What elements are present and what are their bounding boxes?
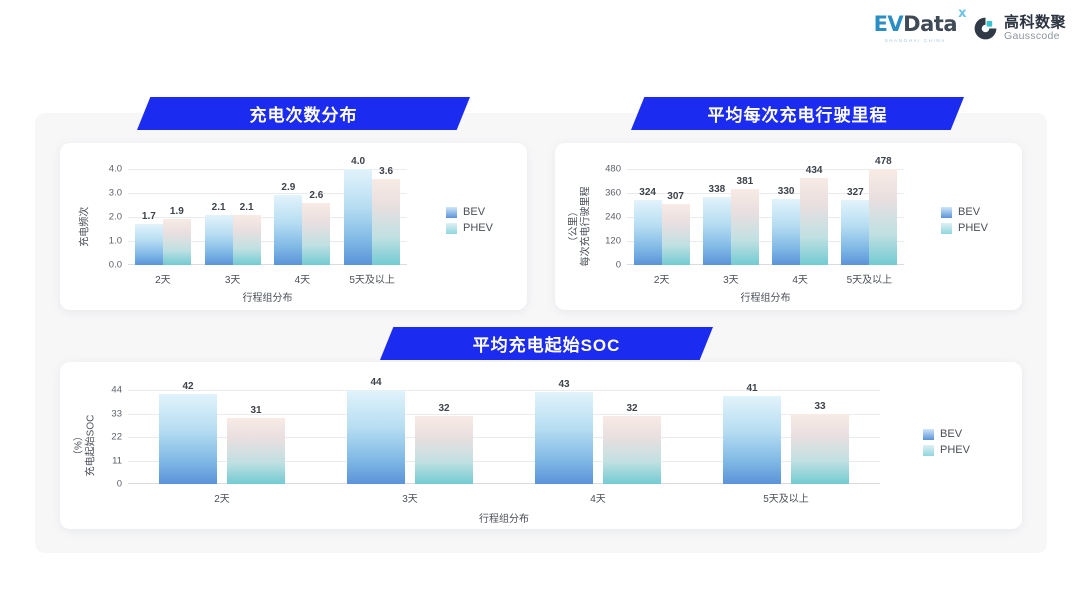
bar-phev[interactable]: 32 (603, 416, 661, 484)
chart3-y-axis-label-line2: （%） (74, 415, 86, 477)
legend-swatch-bev-icon (941, 207, 952, 218)
gausscode-name-en: Gausscode (1004, 31, 1066, 42)
legend-label: PHEV (463, 222, 493, 234)
chart2-y-axis-label: 每次充电行驶里程 （公里） (563, 143, 597, 310)
bar-phev[interactable]: 2.1 (233, 215, 261, 265)
chart2-plot-area: 480 360 240 120 0 324 307 338 381 330 43… (627, 169, 904, 265)
chart1-ytick: 0.0 (109, 260, 122, 271)
bar-group: 330 434 (766, 169, 835, 265)
chart3-x-ticks: 2天 3天 4天 5天及以上 (128, 490, 880, 505)
evdata-logo: EVData x shanghai china (874, 14, 957, 43)
bar-value-label: 44 (370, 377, 381, 388)
bar-group: 2.9 2.6 (268, 169, 338, 265)
bar-bev[interactable]: 2.9 (274, 195, 302, 265)
bar-group: 44 32 (316, 390, 504, 484)
chart1-x-ticks: 2天 3天 4天 5天及以上 (128, 271, 407, 286)
bar-bev[interactable]: 330 (772, 199, 800, 265)
legend-item-bev[interactable]: BEV (446, 206, 493, 218)
chart2-ytick: 120 (605, 236, 621, 247)
bar-phev[interactable]: 381 (731, 189, 759, 265)
bar-value-label: 4.0 (351, 156, 365, 167)
bar-bev[interactable]: 327 (841, 200, 869, 265)
bar-bev[interactable]: 42 (159, 394, 217, 484)
legend-swatch-phev-icon (923, 445, 934, 456)
bar-phev[interactable]: 33 (791, 414, 849, 485)
bar-value-label: 43 (558, 379, 569, 390)
bar-value-label: 307 (667, 191, 684, 202)
bar-group: 338 381 (696, 169, 765, 265)
legend-item-bev[interactable]: BEV (923, 428, 970, 440)
chart1-bars: 1.7 1.9 2.1 2.1 2.9 2.6 4.0 3.6 (128, 169, 407, 265)
bar-bev[interactable]: 41 (723, 396, 781, 484)
legend-item-phev[interactable]: PHEV (923, 444, 970, 456)
chart-charging-frequency: 充电频次 4.0 3.0 2.0 1.0 0.0 1.7 1.9 2.1 2.1 (60, 143, 527, 310)
bar-bev[interactable]: 338 (703, 197, 731, 265)
gausscode-text: 高科数聚 Gausscode (1004, 15, 1066, 42)
chart1-x-axis-label: 行程组分布 (128, 289, 407, 304)
bar-value-label: 327 (847, 187, 864, 198)
bar-group: 4.0 3.6 (337, 169, 407, 265)
chart2-ytick: 360 (605, 188, 621, 199)
gausscode-name-cn: 高科数聚 (1004, 15, 1066, 31)
bar-phev[interactable]: 1.9 (163, 219, 191, 265)
chart3-y-axis-label: 充电起始SOC （%） (68, 362, 102, 529)
chart1-ytick: 3.0 (109, 188, 122, 199)
legend-label: PHEV (940, 444, 970, 456)
bar-value-label: 330 (778, 186, 795, 197)
bar-group: 324 307 (627, 169, 696, 265)
chart3-xtick: 3天 (316, 490, 504, 505)
header-logos: EVData x shanghai china 高科数聚 Gausscode (874, 14, 1066, 43)
chart2-ytick: 240 (605, 212, 621, 223)
bar-value-label: 434 (806, 165, 823, 176)
chart2-y-axis-label-line1: 每次充电行驶里程 (580, 187, 592, 267)
chart1-y-axis-label-line1: 充电频次 (79, 207, 91, 247)
chart2-xtick: 2天 (627, 271, 696, 286)
chart2-x-axis-label: 行程组分布 (627, 289, 904, 304)
chart1-ytick: 2.0 (109, 212, 122, 223)
bar-value-label: 478 (875, 156, 892, 167)
chart3-ytick: 22 (111, 432, 122, 443)
bar-bev[interactable]: 43 (535, 392, 593, 484)
bar-value-label: 33 (814, 401, 825, 412)
chart2-xtick: 4天 (766, 271, 835, 286)
evdata-wordmark: EVData x (874, 14, 957, 35)
legend-item-phev[interactable]: PHEV (446, 222, 493, 234)
gausscode-g-mark-icon (973, 16, 998, 41)
chart1-y-axis-label: 充电频次 (68, 143, 102, 310)
bar-value-label: 42 (182, 381, 193, 392)
evdata-subtitle: shanghai china (885, 38, 946, 43)
legend-swatch-phev-icon (941, 223, 952, 234)
chart3-xtick: 4天 (504, 490, 692, 505)
bar-bev[interactable]: 324 (634, 200, 662, 265)
bar-value-label: 32 (438, 403, 449, 414)
legend-label: BEV (958, 206, 980, 218)
chart1-ytick: 4.0 (109, 164, 122, 175)
chart3-xtick: 5天及以上 (692, 490, 880, 505)
bar-value-label: 2.1 (240, 202, 254, 213)
evdata-x-superscript: x (958, 7, 966, 20)
evdata-data-text: Data (903, 12, 957, 36)
chart3-x-axis-label: 行程组分布 (128, 510, 880, 525)
bar-bev[interactable]: 44 (347, 390, 405, 484)
chart2-bars: 324 307 338 381 330 434 327 478 (627, 169, 904, 265)
bar-phev[interactable]: 3.6 (372, 179, 400, 265)
bar-bev[interactable]: 4.0 (344, 169, 372, 265)
chart-title-banner-charging-frequency: 充电次数分布 (137, 97, 470, 130)
chart-card-avg-distance: 每次充电行驶里程 （公里） 480 360 240 120 0 324 307 … (555, 143, 1022, 310)
chart1-ytick: 1.0 (109, 236, 122, 247)
legend-swatch-phev-icon (446, 223, 457, 234)
legend-swatch-bev-icon (923, 429, 934, 440)
legend-label: BEV (463, 206, 485, 218)
legend-label: PHEV (958, 222, 988, 234)
chart3-bars: 42 31 44 32 43 32 41 33 (128, 390, 880, 484)
chart2-x-ticks: 2天 3天 4天 5天及以上 (627, 271, 904, 286)
bar-phev[interactable]: 434 (800, 178, 828, 265)
chart2-legend: BEV PHEV (941, 206, 988, 234)
bar-group: 43 32 (504, 390, 692, 484)
bar-group: 2.1 2.1 (198, 169, 268, 265)
chart1-plot-area: 4.0 3.0 2.0 1.0 0.0 1.7 1.9 2.1 2.1 2.9 … (128, 169, 407, 265)
chart-card-charging-frequency: 充电频次 4.0 3.0 2.0 1.0 0.0 1.7 1.9 2.1 2.1 (60, 143, 527, 310)
chart1-xtick: 4天 (268, 271, 338, 286)
chart1-legend: BEV PHEV (446, 206, 493, 234)
bar-group: 41 33 (692, 390, 880, 484)
evdata-ev-text: EV (874, 12, 904, 36)
chart-title-banner-avg-start-soc: 平均充电起始SOC (380, 327, 713, 360)
chart2-xtick: 5天及以上 (835, 271, 904, 286)
bar-phev[interactable]: 478 (869, 169, 897, 265)
chart1-xtick: 3天 (198, 271, 268, 286)
chart3-plot-area: 44 33 22 11 0 42 31 44 32 43 32 41 (128, 390, 880, 484)
legend-item-bev[interactable]: BEV (941, 206, 988, 218)
bar-value-label: 1.9 (170, 206, 184, 217)
bar-bev[interactable]: 2.1 (205, 215, 233, 265)
legend-swatch-bev-icon (446, 207, 457, 218)
bar-value-label: 1.7 (142, 211, 156, 222)
chart2-xtick: 3天 (696, 271, 765, 286)
bar-value-label: 41 (746, 383, 757, 394)
chart3-ytick: 0 (117, 479, 122, 490)
bar-group: 327 478 (835, 169, 904, 265)
chart2-ytick: 0 (616, 260, 621, 271)
bar-phev[interactable]: 2.6 (302, 203, 330, 265)
bar-phev[interactable]: 31 (227, 418, 285, 484)
bar-value-label: 2.6 (309, 190, 323, 201)
gausscode-logo: 高科数聚 Gausscode (973, 15, 1066, 42)
bar-value-label: 381 (737, 176, 754, 187)
bar-value-label: 31 (250, 405, 261, 416)
chart-title-banner-avg-distance: 平均每次充电行驶里程 (631, 97, 964, 130)
chart3-ytick: 44 (111, 385, 122, 396)
chart3-ytick: 11 (112, 455, 122, 466)
bar-value-label: 2.9 (281, 182, 295, 193)
chart3-legend: BEV PHEV (923, 428, 970, 456)
bar-value-label: 324 (639, 187, 656, 198)
chart-avg-distance: 每次充电行驶里程 （公里） 480 360 240 120 0 324 307 … (555, 143, 1022, 310)
chart1-xtick: 2天 (128, 271, 198, 286)
chart1-xtick: 5天及以上 (337, 271, 407, 286)
bar-phev[interactable]: 307 (662, 204, 690, 265)
bar-value-label: 338 (709, 184, 726, 195)
bar-value-label: 32 (626, 403, 637, 414)
bar-value-label: 2.1 (212, 202, 226, 213)
chart2-ytick: 480 (605, 164, 621, 175)
chart2-y-axis-label-line2: （公里） (569, 187, 581, 267)
bar-phev[interactable]: 32 (415, 416, 473, 484)
chart-card-avg-start-soc: 充电起始SOC （%） 44 33 22 11 0 42 31 44 (60, 362, 1022, 529)
bar-bev[interactable]: 1.7 (135, 224, 163, 265)
chart-avg-start-soc: 充电起始SOC （%） 44 33 22 11 0 42 31 44 (60, 362, 1022, 529)
bar-group: 42 31 (128, 390, 316, 484)
legend-label: BEV (940, 428, 962, 440)
chart3-ytick: 33 (111, 408, 122, 419)
bar-value-label: 3.6 (379, 166, 393, 177)
chart3-y-axis-label-line1: 充电起始SOC (85, 415, 97, 477)
bar-group: 1.7 1.9 (128, 169, 198, 265)
legend-item-phev[interactable]: PHEV (941, 222, 988, 234)
chart3-xtick: 2天 (128, 490, 316, 505)
